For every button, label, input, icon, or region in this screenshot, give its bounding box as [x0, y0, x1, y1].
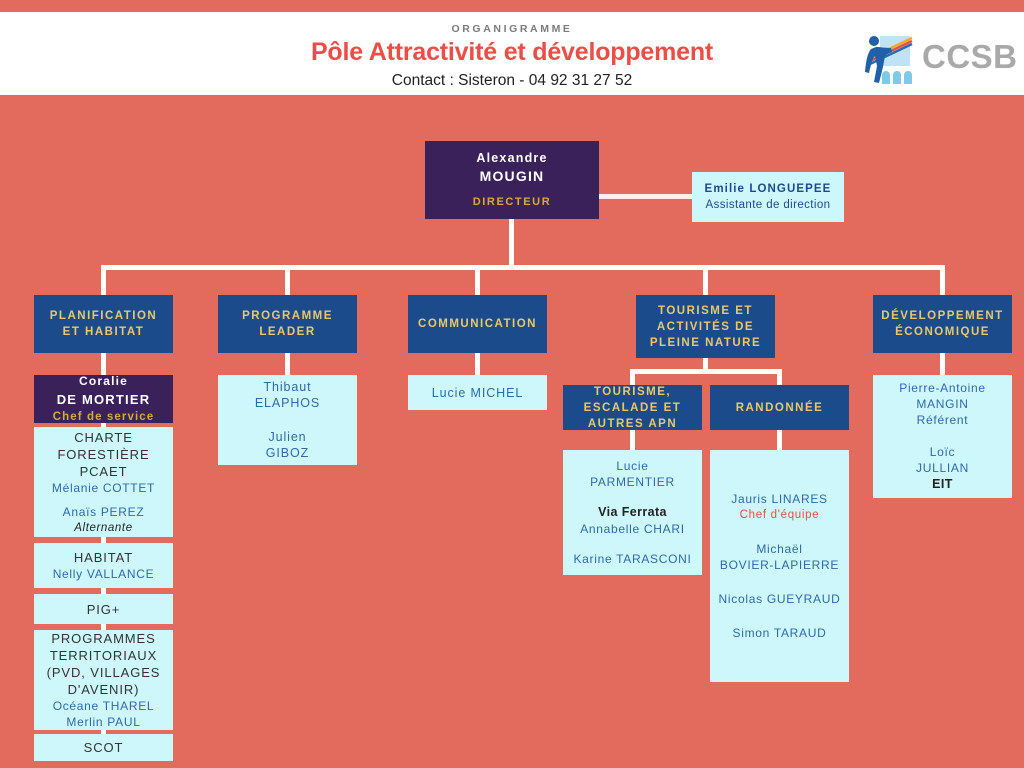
ccsb-figure-building-logo [858, 32, 916, 88]
connector-drop-3 [475, 265, 480, 295]
connector-drop-2 [285, 265, 290, 295]
dept-header-programme-leader[interactable]: PROGRAMME LEADER [218, 295, 357, 353]
connector-director-assistant [597, 194, 693, 199]
dept-title-line: PROGRAMME [242, 308, 333, 324]
subunit-title-line: TOURISME, [594, 384, 671, 400]
card-programme-leader[interactable]: Thibaut ELAPHOS Julien GIBOZ [218, 375, 357, 465]
card-group: Pierre-Antoine MANGIN Référent [899, 380, 986, 428]
connector-tourism-sub2-card [777, 429, 782, 451]
card-line: Pierre-Antoine [899, 380, 986, 396]
card-randonnee[interactable]: Jauris LINARES Chef d'équipe Michaël BOV… [710, 450, 849, 682]
connector-tourism-bus [630, 369, 782, 374]
card-line: Anaïs PEREZ [63, 504, 145, 520]
card-group: Nicolas GUEYRAUD [719, 591, 841, 607]
chief-first-name: Coralie [79, 372, 128, 390]
ccsb-logo: CCSB [858, 30, 1018, 90]
dept-title-line: ACTIVITÉS DE [657, 319, 754, 335]
card-communication[interactable]: Lucie MICHEL [408, 375, 547, 410]
org-chart: Alexandre MOUGIN DIRECTEUR Emilie LONGUE… [0, 95, 1024, 768]
card-line: Thibaut [255, 379, 320, 395]
card-group: Lucie PARMENTIER [590, 458, 675, 490]
dept-title-line: COMMUNICATION [418, 316, 537, 332]
card-pig[interactable]: PIG+ [34, 594, 173, 624]
connector-col2-card [285, 353, 290, 375]
subunit-header-randonnee[interactable]: RANDONNÉE [710, 385, 849, 430]
connector-director-down [509, 219, 514, 265]
card-line: Alternante [63, 520, 145, 536]
subunit-title-line: AUTRES APN [588, 416, 677, 432]
card-line: Julien [266, 429, 309, 445]
dept-header-planification[interactable]: PLANIFICATION ET HABITAT [34, 295, 173, 353]
subunit-header-tourisme-escalade[interactable]: TOURISME, ESCALADE ET AUTRES APN [563, 385, 702, 430]
card-scot[interactable]: SCOT [34, 734, 173, 761]
card-developpement-economique[interactable]: Pierre-Antoine MANGIN Référent Loïc JULL… [873, 375, 1012, 498]
connector-col3-card [475, 353, 480, 375]
card-line: Lucie MICHEL [432, 385, 523, 401]
card-line: Nelly VALLANCE [53, 566, 155, 582]
card-line: ELAPHOS [255, 395, 320, 411]
connector-col5-card [940, 353, 945, 375]
card-line: Référent [899, 412, 986, 428]
card-group: Simon TARAUD [733, 625, 827, 641]
connector-drop-5 [940, 265, 945, 295]
card-line: Merlin PAUL [66, 714, 140, 730]
assistant-name: Emilie LONGUEPEE [705, 181, 832, 197]
assistant-box[interactable]: Emilie LONGUEPEE Assistante de direction [692, 172, 844, 222]
card-line: MANGIN [899, 396, 986, 412]
dept-title-line: PLEINE NATURE [650, 335, 761, 351]
card-line: Lucie [590, 458, 675, 474]
chief-role: Chef de service [53, 409, 155, 426]
card-line: Loïc [916, 444, 969, 460]
card-line: JULLIAN [916, 460, 969, 476]
card-group: Via Ferrata Annabelle CHARI [580, 504, 685, 537]
card-group: Julien GIBOZ [266, 429, 309, 461]
card-habitat[interactable]: HABITAT Nelly VALLANCE [34, 543, 173, 588]
director-box[interactable]: Alexandre MOUGIN DIRECTEUR [425, 141, 599, 219]
card-line: CHARTE [52, 429, 155, 446]
card-group: CHARTE FORESTIÈRE PCAET Mélanie COTTET [52, 429, 155, 496]
connector-tourism-sub1-card [630, 429, 635, 451]
card-line: HABITAT [74, 549, 133, 566]
dept-title-line: ÉCONOMIQUE [895, 324, 990, 340]
dept-title-line: LEADER [259, 324, 315, 340]
dept-title-line: ET HABITAT [63, 324, 145, 340]
card-line: Karine TARASCONI [573, 551, 691, 567]
card-line: PCAET [52, 463, 155, 480]
card-line: Jauris LINARES [731, 491, 828, 507]
card-line: Michaël [720, 541, 839, 557]
connector-tourism-sub2 [777, 369, 782, 385]
card-line: Océane THAREL [53, 698, 155, 714]
card-programmes-territoriaux[interactable]: PROGRAMMES TERRITORIAUX (PVD, VILLAGES D… [34, 630, 173, 730]
director-role: DIRECTEUR [473, 193, 552, 211]
dept-header-developpement-economique[interactable]: DÉVELOPPEMENT ÉCONOMIQUE [873, 295, 1012, 353]
logo-text: CCSB [922, 38, 1018, 76]
card-group: Karine TARASCONI [573, 551, 691, 567]
card-line: PROGRAMMES [51, 630, 155, 647]
card-line: TERRITORIAUX [50, 647, 157, 664]
chief-last-name: DE MORTIER [57, 390, 151, 409]
dept-header-tourisme[interactable]: TOURISME ET ACTIVITÉS DE PLEINE NATURE [636, 295, 775, 358]
subunit-title-line: RANDONNÉE [736, 400, 824, 416]
card-group: Jauris LINARES Chef d'équipe [731, 491, 828, 523]
director-first-name: Alexandre [476, 149, 547, 167]
assistant-role: Assistante de direction [706, 197, 831, 214]
card-line: PIG+ [87, 601, 121, 618]
page-header: ORGANIGRAMME Pôle Attractivité et dévelo… [0, 12, 1024, 95]
dept-title-line: PLANIFICATION [50, 308, 157, 324]
director-last-name: MOUGIN [480, 167, 545, 186]
card-line: PARMENTIER [590, 474, 675, 490]
connector-horizontal-bus [103, 265, 944, 270]
card-charte-forestiere[interactable]: CHARTE FORESTIÈRE PCAET Mélanie COTTET A… [34, 427, 173, 537]
card-line: Chef d'équipe [731, 507, 828, 523]
connector-drop-1 [101, 265, 106, 295]
card-tourisme-escalade[interactable]: Lucie PARMENTIER Via Ferrata Annabelle C… [563, 450, 702, 575]
dept-header-communication[interactable]: COMMUNICATION [408, 295, 547, 353]
chief-box-planification[interactable]: Coralie DE MORTIER Chef de service [34, 375, 173, 423]
card-line: Annabelle CHARI [580, 521, 685, 537]
card-group: Thibaut ELAPHOS [255, 379, 320, 411]
connector-drop-4 [703, 265, 708, 295]
card-line: Simon TARAUD [733, 625, 827, 641]
dept-title-line: TOURISME ET [658, 303, 753, 319]
dept-title-line: DÉVELOPPEMENT [881, 308, 1003, 324]
subunit-title-line: ESCALADE ET [584, 400, 682, 416]
card-group: Anaïs PEREZ Alternante [63, 504, 145, 536]
card-group: Loïc JULLIAN EIT [916, 444, 969, 493]
top-accent-strip [0, 0, 1024, 12]
card-line: (PVD, VILLAGES [47, 664, 161, 681]
card-line: SCOT [84, 739, 124, 756]
card-line: EIT [916, 476, 969, 493]
card-line: Via Ferrata [580, 504, 685, 521]
card-line: D'AVENIR) [68, 681, 140, 698]
card-group: Michaël BOVIER-LAPIERRE [720, 541, 839, 573]
card-line: GIBOZ [266, 445, 309, 461]
card-line: FORESTIÈRE [52, 446, 155, 463]
card-line: BOVIER-LAPIERRE [720, 557, 839, 573]
card-line: Mélanie COTTET [52, 480, 155, 496]
card-line: Nicolas GUEYRAUD [719, 591, 841, 607]
